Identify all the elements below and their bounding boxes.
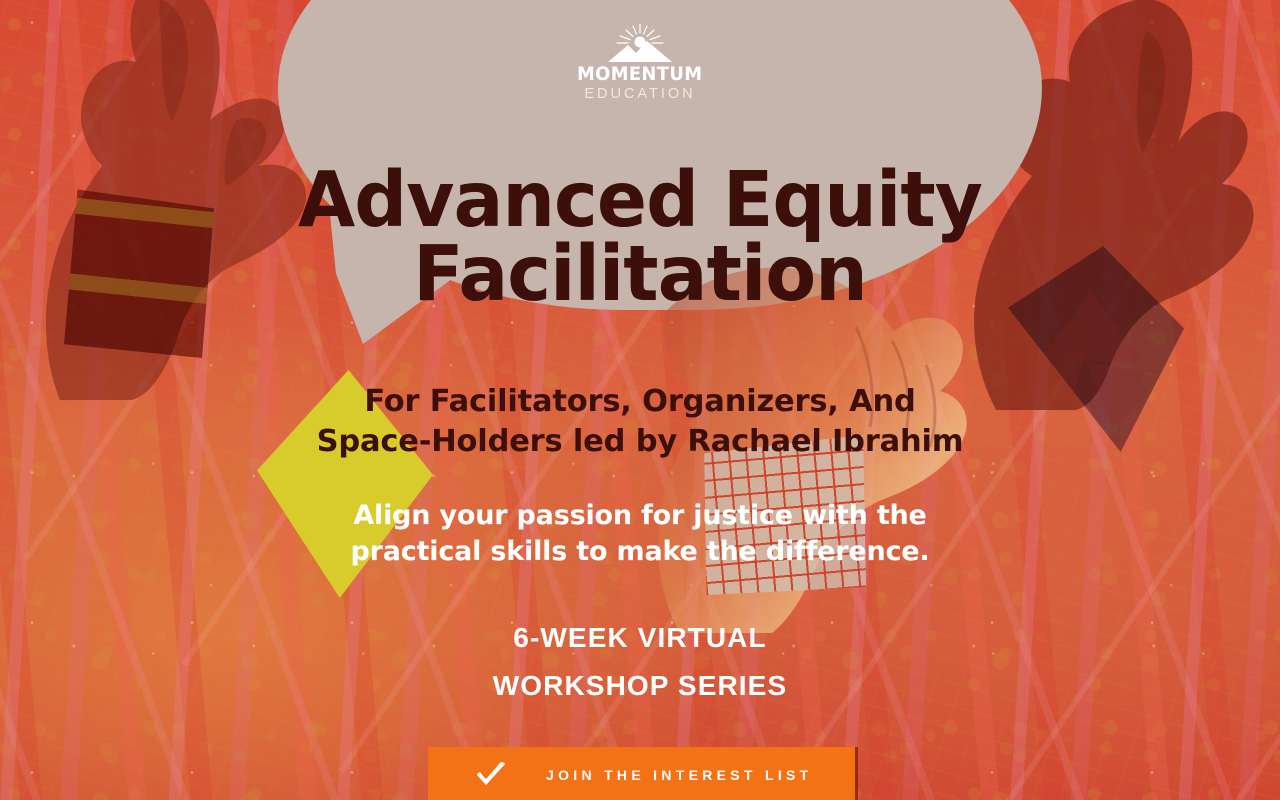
subheadline: For Facilitators, Organizers, And Space-… xyxy=(0,382,1280,463)
series-detail: 6-WEEK VIRTUAL WORKSHOP SERIES xyxy=(0,614,1280,710)
poster-canvas: MOMENTUM EDUCATION Advanced Equity Facil… xyxy=(0,0,1280,800)
brand-tagline: EDUCATION xyxy=(584,87,695,102)
subhead-line-1: For Facilitators, Organizers, And xyxy=(364,384,915,419)
brand-name: MOMENTUM xyxy=(577,65,702,84)
poster-content: MOMENTUM EDUCATION Advanced Equity Facil… xyxy=(0,0,1280,800)
join-interest-list-button[interactable]: JOIN THE INTEREST LIST xyxy=(428,747,855,800)
page-title: Advanced Equity Facilitation xyxy=(26,164,1255,312)
mountain-sunrise-icon xyxy=(605,22,675,64)
headline-line-2: Facilitation xyxy=(413,230,867,319)
value-proposition: Align your passion for justice with the … xyxy=(0,498,1280,570)
brand-logo: MOMENTUM EDUCATION xyxy=(0,22,1280,102)
cta-label: JOIN THE INTEREST LIST xyxy=(546,767,813,783)
series-line-1: 6-WEEK VIRTUAL xyxy=(513,622,766,653)
blurb-line-1: Align your passion for justice with the xyxy=(353,500,926,531)
check-icon xyxy=(476,762,506,788)
blurb-line-2: practical skills to make the difference. xyxy=(351,536,930,567)
series-line-2: WORKSHOP SERIES xyxy=(493,670,787,701)
subhead-line-2: Space-Holders led by Rachael Ibrahim xyxy=(317,424,964,459)
